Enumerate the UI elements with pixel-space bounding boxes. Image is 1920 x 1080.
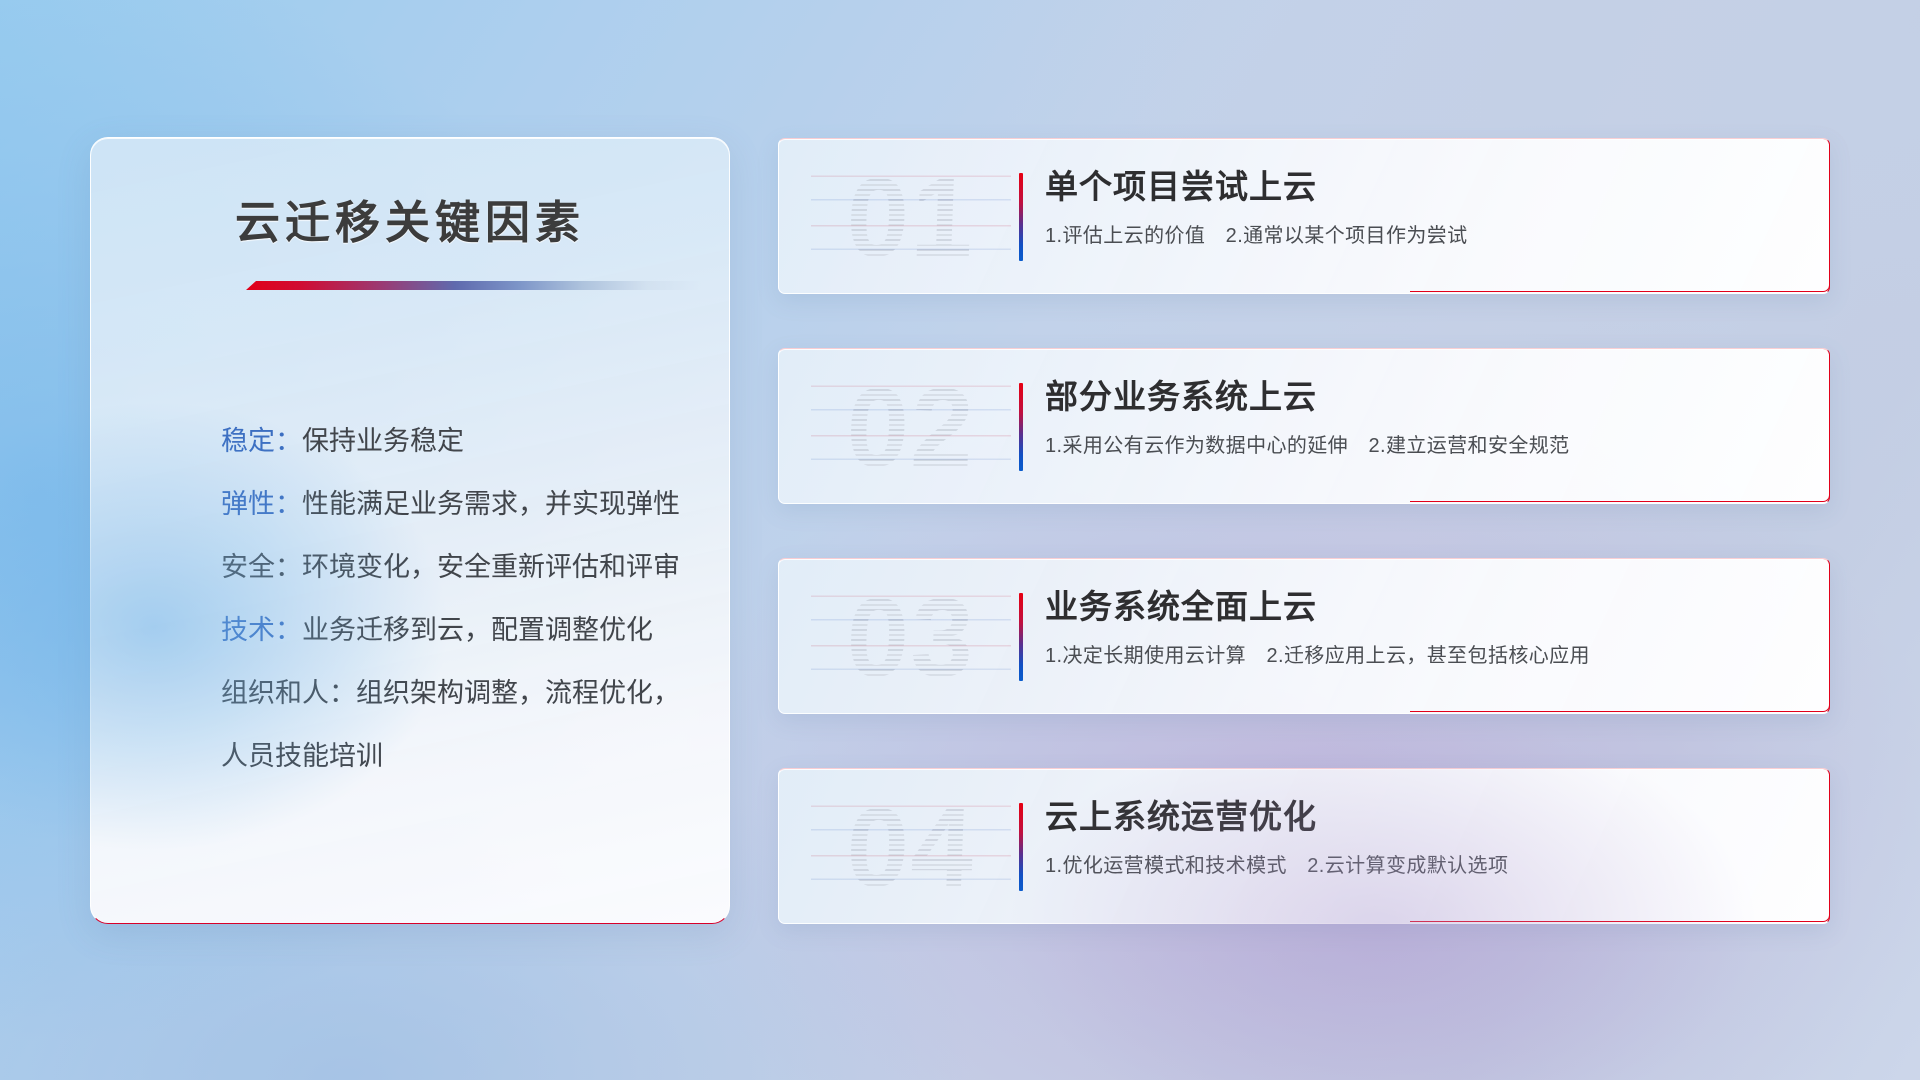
card-subtitle: 1.评估上云的价值 2.通常以某个项目作为尝试 xyxy=(1045,222,1789,250)
list-item: 组织和人：组织架构调整，流程优化，人员技能培训 xyxy=(221,662,689,788)
list-item: 稳定：保持业务稳定 xyxy=(221,410,689,473)
card-accent-bar xyxy=(1019,593,1023,681)
card-accent-bar xyxy=(1019,383,1023,471)
key-factors-panel: 云迁移关键因素 稳定：保持业务稳定 弹性：性能满足业务需求，并实现弹性 安全：环… xyxy=(90,137,730,924)
card-body: 单个项目尝试上云 1.评估上云的价值 2.通常以某个项目作为尝试 xyxy=(1045,165,1789,250)
list-item-value: 环境变化，安全重新评估和评审 xyxy=(302,552,680,582)
card-title: 单个项目尝试上云 xyxy=(1045,165,1789,209)
stage-number-text: 03 xyxy=(809,579,1013,697)
card-accent-bar xyxy=(1019,803,1023,891)
list-item: 安全：环境变化，安全重新评估和评审 xyxy=(221,536,689,599)
page-title: 云迁移关键因素 xyxy=(91,186,729,251)
card-title: 云上系统运营优化 xyxy=(1045,795,1789,839)
list-item-key: 组织和人： xyxy=(221,678,356,708)
card-body: 云上系统运营优化 1.优化运营模式和技术模式 2.云计算变成默认选项 xyxy=(1045,795,1789,880)
key-factors-list: 稳定：保持业务稳定 弹性：性能满足业务需求，并实现弹性 安全：环境变化，安全重新… xyxy=(221,410,689,788)
list-item-key: 弹性： xyxy=(221,489,302,519)
stage-number-text: 04 xyxy=(809,789,1013,907)
list-item-key: 安全： xyxy=(221,552,302,582)
card-red-bottom-edge xyxy=(779,923,1829,924)
card-red-bottom-edge xyxy=(779,503,1829,504)
stage-number-ghost: 01 xyxy=(811,159,1011,277)
list-item: 弹性：性能满足业务需求，并实现弹性 xyxy=(221,473,689,536)
list-item-value: 保持业务稳定 xyxy=(302,426,464,456)
list-item: 技术：业务迁移到云，配置调整优化 xyxy=(221,599,689,662)
stage-number-ghost: 02 xyxy=(811,369,1011,487)
card-red-bottom-edge xyxy=(779,293,1829,294)
list-item-value: 业务迁移到云，配置调整优化 xyxy=(302,615,653,645)
card-body: 业务系统全面上云 1.决定长期使用云计算 2.迁移应用上云，甚至包括核心应用 xyxy=(1045,585,1789,670)
title-underline-bar xyxy=(246,281,701,290)
card-accent-bar xyxy=(1019,173,1023,261)
stage-card[interactable]: 03 业务系统全面上云 1.决定长期使用云计算 2.迁移应用上云，甚至包括核心应… xyxy=(778,558,1830,714)
stage-number-text: 02 xyxy=(809,369,1013,487)
card-title: 业务系统全面上云 xyxy=(1045,585,1789,629)
stage-card[interactable]: 02 部分业务系统上云 1.采用公有云作为数据中心的延伸 2.建立运营和安全规范 xyxy=(778,348,1830,504)
title-underline-rule xyxy=(246,281,701,290)
card-subtitle: 1.优化运营模式和技术模式 2.云计算变成默认选项 xyxy=(1045,852,1789,880)
panel-red-corner-accent xyxy=(90,805,209,924)
card-red-bottom-edge xyxy=(779,713,1829,714)
list-item-key: 稳定： xyxy=(221,426,302,456)
card-subtitle: 1.决定长期使用云计算 2.迁移应用上云，甚至包括核心应用 xyxy=(1045,642,1789,670)
card-title: 部分业务系统上云 xyxy=(1045,375,1789,419)
stage-card-list: 01 单个项目尝试上云 1.评估上云的价值 2.通常以某个项目作为尝试 02 部… xyxy=(778,138,1830,924)
stage-number-ghost: 04 xyxy=(811,789,1011,907)
list-item-key: 技术： xyxy=(221,615,302,645)
list-item-value: 性能满足业务需求，并实现弹性 xyxy=(302,489,680,519)
stage-card[interactable]: 04 云上系统运营优化 1.优化运营模式和技术模式 2.云计算变成默认选项 xyxy=(778,768,1830,924)
card-subtitle: 1.采用公有云作为数据中心的延伸 2.建立运营和安全规范 xyxy=(1045,432,1789,460)
stage-number-ghost: 03 xyxy=(811,579,1011,697)
card-body: 部分业务系统上云 1.采用公有云作为数据中心的延伸 2.建立运营和安全规范 xyxy=(1045,375,1789,460)
panel-red-corner-accent-right xyxy=(531,865,730,924)
stage-number-text: 01 xyxy=(809,159,1013,277)
stage-card[interactable]: 01 单个项目尝试上云 1.评估上云的价值 2.通常以某个项目作为尝试 xyxy=(778,138,1830,294)
slide-canvas: 云迁移关键因素 稳定：保持业务稳定 弹性：性能满足业务需求，并实现弹性 安全：环… xyxy=(0,0,1920,1080)
